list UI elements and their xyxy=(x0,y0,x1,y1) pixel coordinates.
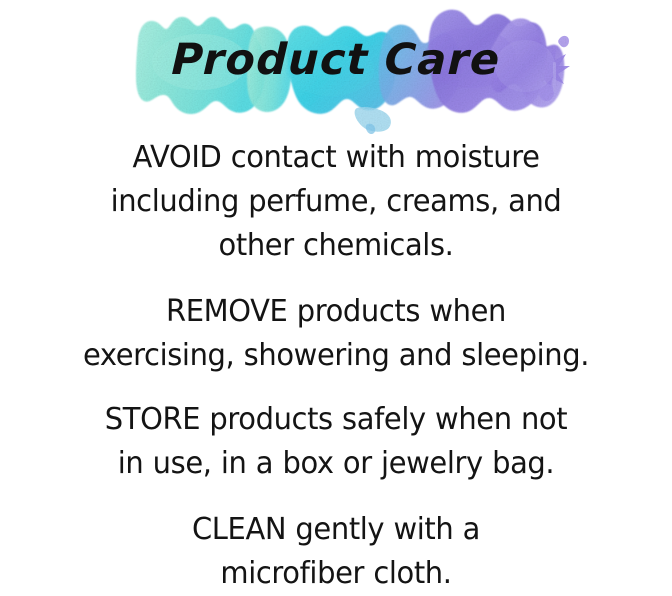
care-instructions-list: AVOID contact with moisture including pe… xyxy=(0,134,672,596)
care-line: STORE products safely when not xyxy=(12,398,660,442)
care-instruction-avoid: AVOID contact with moisture including pe… xyxy=(12,136,660,268)
care-line: including perfume, creams, and xyxy=(12,180,660,224)
care-instruction-remove: REMOVE products when exercising, showeri… xyxy=(12,290,660,378)
care-line: other chemicals. xyxy=(12,224,660,268)
page-title: Product Care xyxy=(0,34,672,86)
care-instruction-clean: CLEAN gently with a microfiber cloth. xyxy=(12,508,660,596)
care-line: AVOID contact with moisture xyxy=(12,136,660,180)
care-line: CLEAN gently with a xyxy=(12,508,660,552)
care-line: in use, in a box or jewelry bag. xyxy=(12,442,660,486)
product-care-card: Product Care AVOID contact with moisture… xyxy=(0,0,672,582)
care-instruction-store: STORE products safely when not in use, i… xyxy=(12,398,660,486)
care-line: microfiber cloth. xyxy=(12,552,660,596)
care-line: REMOVE products when xyxy=(12,290,660,334)
care-line: exercising, showering and sleeping. xyxy=(12,334,660,378)
